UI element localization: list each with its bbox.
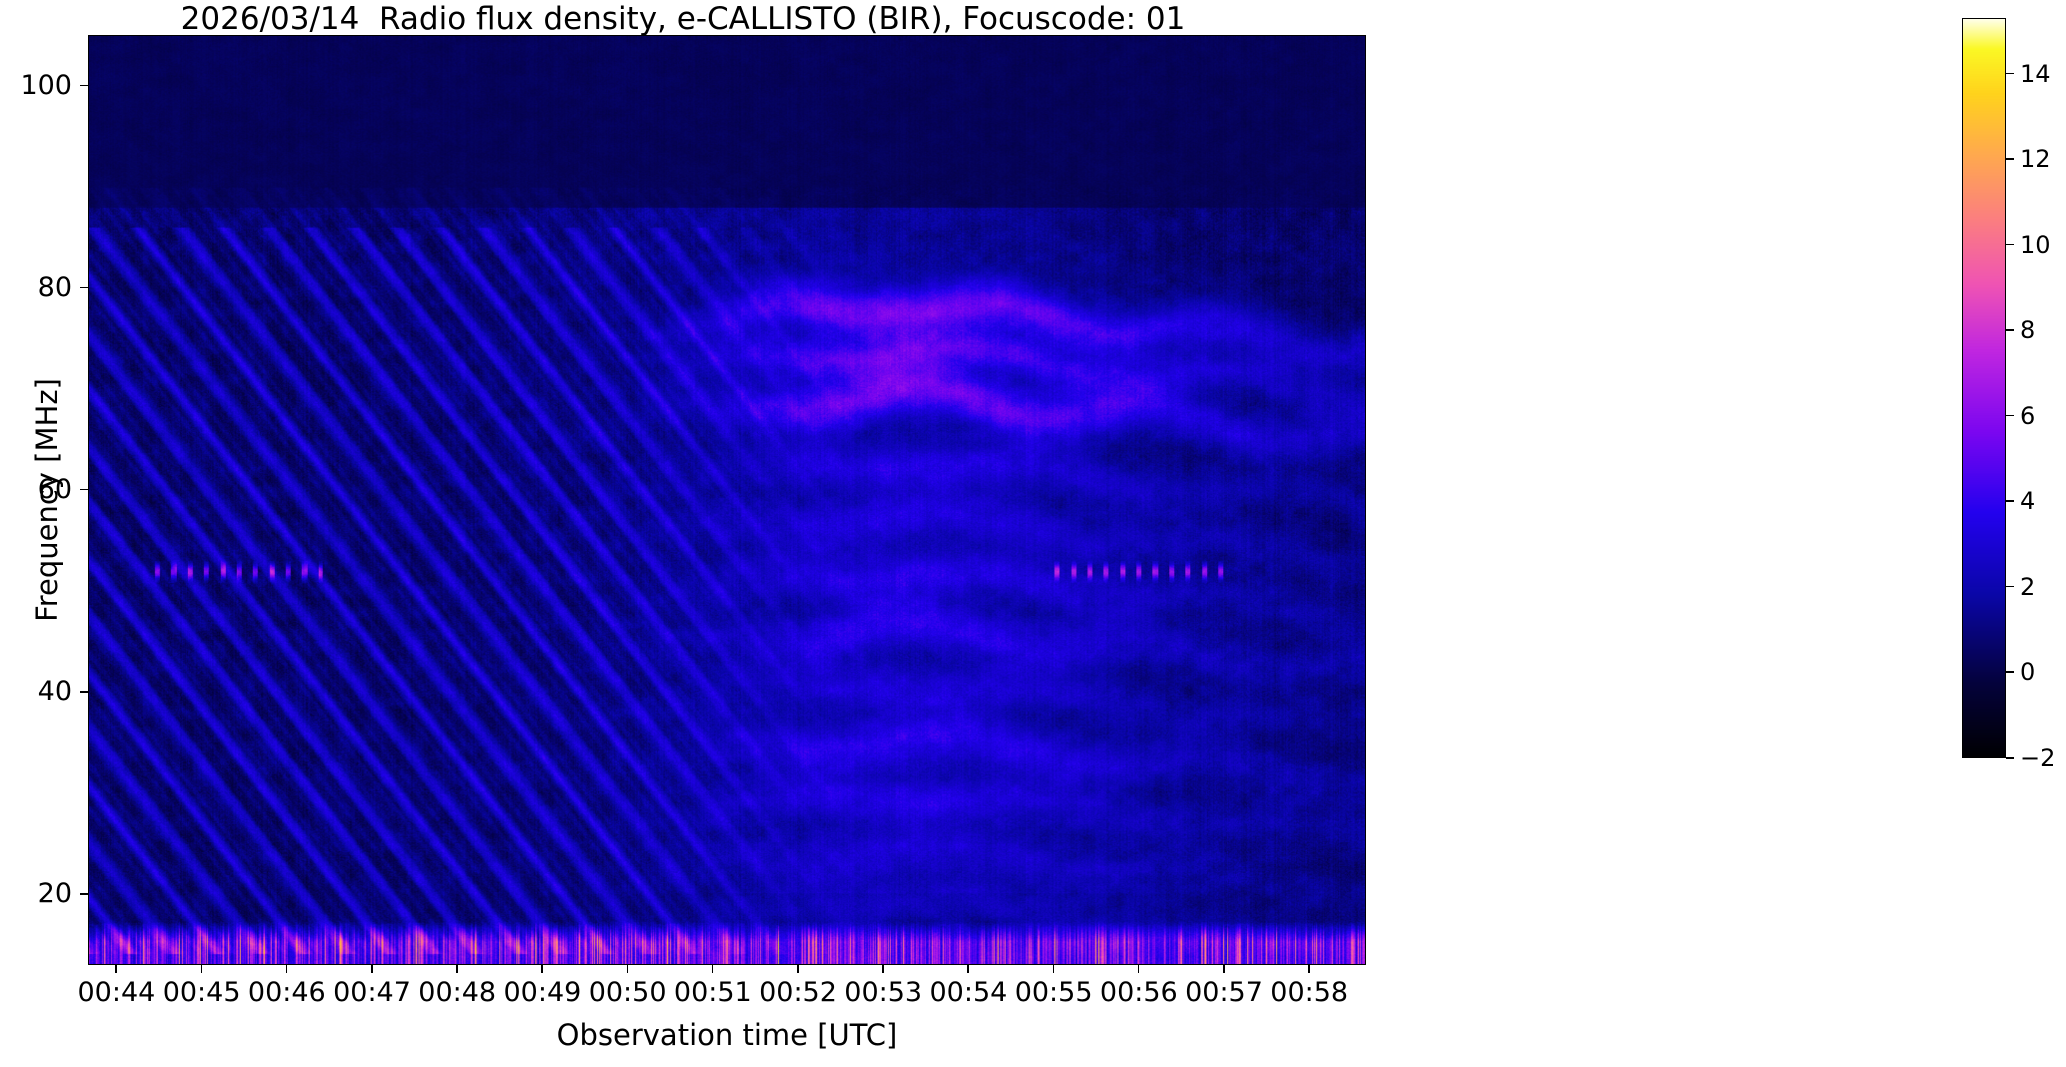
colorbar-tick-label: 14 <box>2020 62 2051 86</box>
y-axis-label: Frequency [MHz] <box>30 35 64 965</box>
colorbar-tick-mark <box>2006 244 2014 246</box>
colorbar <box>1962 18 2006 758</box>
x-tick-mark <box>797 965 799 973</box>
spectrogram-image <box>89 36 1365 964</box>
colorbar-tick-label: 2 <box>2020 575 2035 599</box>
colorbar-tick-label: 6 <box>2020 404 2035 428</box>
y-tick-mark <box>80 287 88 289</box>
x-tick-mark <box>1308 965 1310 973</box>
colorbar-tick-label: 0 <box>2020 660 2035 684</box>
y-tick-mark <box>80 85 88 87</box>
colorbar-tick-label: 12 <box>2020 147 2051 171</box>
colorbar-tick-mark <box>2006 415 2014 417</box>
colorbar-tick-mark <box>2006 329 2014 331</box>
y-tick-mark <box>80 893 88 895</box>
colorbar-tick-label: −2 <box>2020 746 2055 770</box>
colorbar-tick-mark <box>2006 671 2014 673</box>
x-tick-mark <box>627 965 629 973</box>
colorbar-tick-mark <box>2006 586 2014 588</box>
y-tick-mark <box>80 691 88 693</box>
x-tick-label: 00:58 <box>1249 979 1369 1006</box>
colorbar-tick-mark <box>2006 500 2014 502</box>
figure-title: 2026/03/14 Radio flux density, e-CALLIST… <box>0 2 1366 36</box>
x-tick-mark <box>115 965 117 973</box>
colorbar-tick-label: 8 <box>2020 318 2035 342</box>
spectrogram-axes <box>88 35 1366 965</box>
x-tick-mark <box>541 965 543 973</box>
x-tick-mark <box>1053 965 1055 973</box>
colorbar-tick-mark <box>2006 757 2014 759</box>
x-tick-mark <box>286 965 288 973</box>
x-tick-mark <box>371 965 373 973</box>
colorbar-tick-label: 4 <box>2020 489 2035 513</box>
colorbar-tick-label: 10 <box>2020 233 2051 257</box>
x-tick-mark <box>456 965 458 973</box>
x-tick-mark <box>882 965 884 973</box>
x-axis-label: Observation time [UTC] <box>88 1018 1366 1052</box>
colorbar-gradient <box>1963 19 2005 757</box>
x-tick-mark <box>712 965 714 973</box>
y-tick-mark <box>80 489 88 491</box>
spectrogram-figure: 2026/03/14 Radio flux density, e-CALLIST… <box>0 0 2066 1067</box>
x-tick-mark <box>1138 965 1140 973</box>
colorbar-tick-mark <box>2006 158 2014 160</box>
x-tick-mark <box>967 965 969 973</box>
colorbar-tick-mark <box>2006 73 2014 75</box>
x-tick-mark <box>1223 965 1225 973</box>
x-tick-mark <box>201 965 203 973</box>
